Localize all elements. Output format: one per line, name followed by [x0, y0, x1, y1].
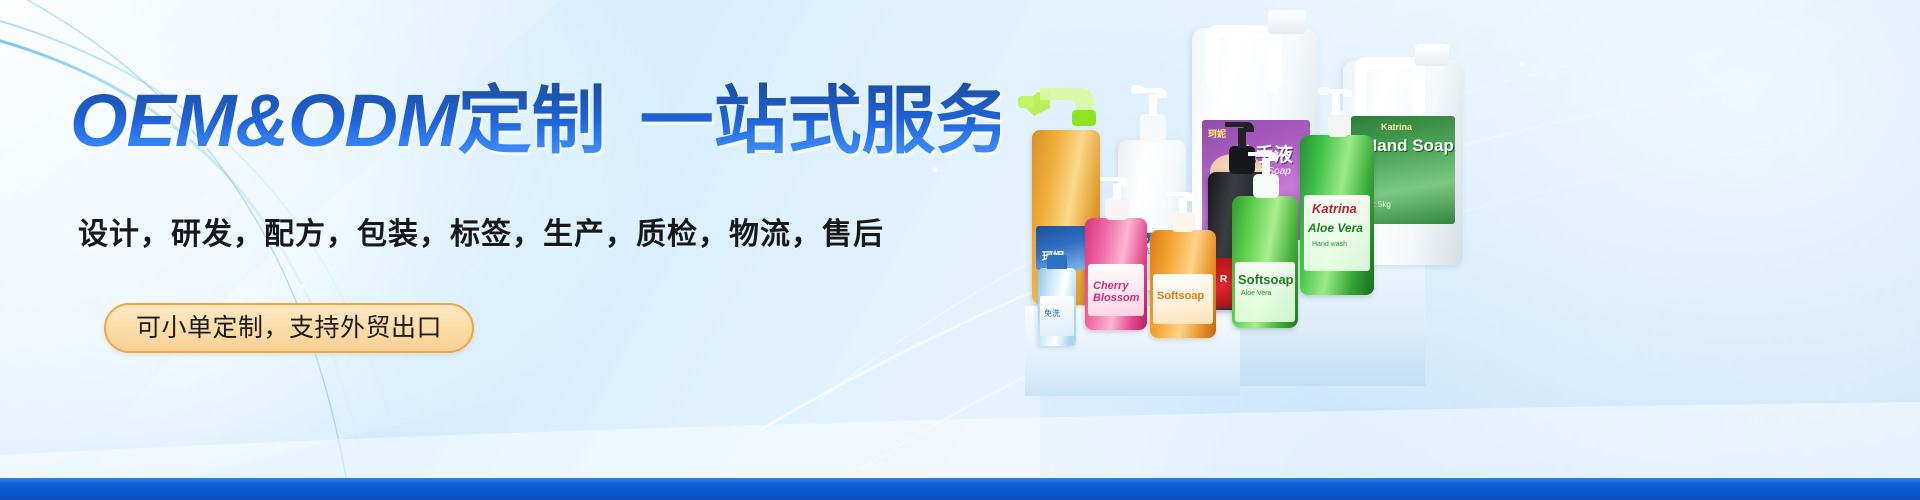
promo-banner: OEM&ODM定制一站式服务 设计，研发，配方，包装，标签，生产，质检，物流，售… — [0, 0, 1920, 500]
label-brand: Katrina — [1381, 122, 1412, 132]
product-photo-cluster: 珂妮 洗手液 Liquid Soap Katrina Hand Soap Net… — [990, 0, 1920, 500]
label-brand: Katrina — [1312, 201, 1357, 216]
label-title: Softsoap — [1157, 290, 1204, 302]
label-sub: Aloe Vera — [1241, 290, 1271, 297]
pump-head-icon — [1097, 174, 1137, 220]
banner-subtitle: 设计，研发，配方，包装，标签，生产，质检，物流，售后 — [78, 213, 978, 257]
label-title: Softsoap — [1238, 272, 1294, 287]
headline-cn: 定制 — [458, 79, 606, 162]
pink-bottle-label: Cherry Blossom — [1088, 264, 1144, 316]
label-sub: Hand wash — [1312, 241, 1347, 248]
orange-bottle-label: Softsoap — [1153, 274, 1213, 324]
green-foam-label: Softsoap Aloe Vera — [1235, 262, 1295, 322]
aloe-bottle-label: Katrina Aloe Vera Hand wash — [1304, 195, 1370, 271]
headline-latin: OEM&ODM — [70, 79, 458, 162]
jerrycan-cap — [1415, 44, 1449, 66]
promo-badge: 可小单定制，支持外贸出口 — [104, 303, 474, 353]
jerrycan-handle — [1355, 57, 1425, 117]
headline-cn2: 一站式服务 — [640, 79, 1010, 162]
banner-headline: OEM&ODM定制一站式服务 — [70, 80, 1000, 162]
pump-head-icon — [1316, 81, 1360, 137]
pump-head-icon — [1244, 148, 1288, 198]
banner-content: OEM&ODM定制一站式服务 设计，研发，配方，包装，标签，生产，质检，物流，售… — [0, 0, 1000, 500]
product-orange-bottle: Softsoap — [1150, 230, 1216, 338]
spray-trigger-icon — [1016, 82, 1108, 134]
product-blue-bottle: 免洗 — [1038, 268, 1076, 346]
label-title: 免洗 — [1044, 308, 1060, 319]
product-aloe-bottle: Katrina Aloe Vera Hand wash — [1300, 135, 1374, 295]
blue-bottle-cap — [1047, 255, 1067, 269]
pump-head-icon — [1163, 190, 1203, 232]
label-text: R — [1220, 274, 1227, 285]
label-title: Hand Soap — [1365, 136, 1454, 156]
bottom-accent-bar — [0, 478, 1920, 500]
label-title: Cherry Blossom — [1093, 280, 1144, 304]
promo-badge-label: 可小单定制，支持外贸出口 — [136, 316, 442, 341]
label-title: Aloe Vera — [1308, 221, 1363, 235]
blue-bottle-label: 免洗 — [1040, 296, 1074, 336]
jerrycan-cap — [1268, 10, 1306, 34]
product-pink-bottle: Cherry Blossom — [1085, 218, 1147, 330]
pump-head-icon — [1130, 80, 1176, 142]
jerrycan-handle — [1206, 25, 1282, 92]
product-green-foam-bottle: Softsoap Aloe Vera — [1232, 196, 1298, 328]
